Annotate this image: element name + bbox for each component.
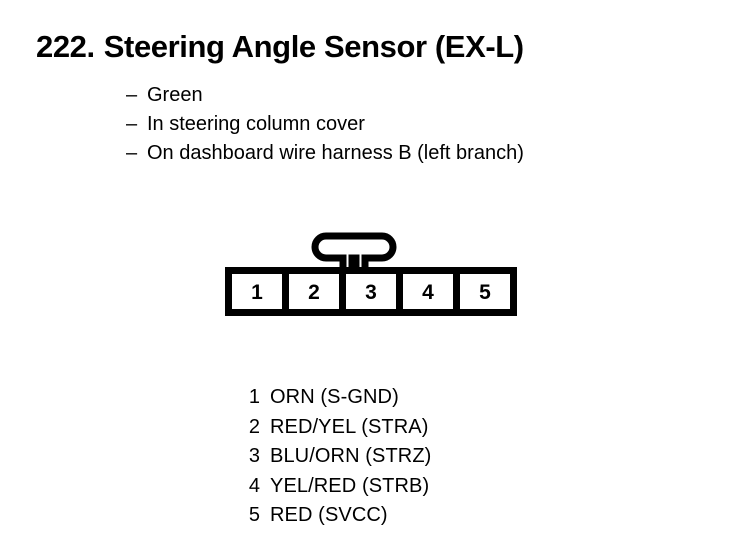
pinout-pin-number: 4 — [238, 472, 260, 502]
pinout-pin-number: 5 — [238, 501, 260, 531]
pinout-row: 4 YEL/RED (STRB) — [238, 472, 431, 502]
dash-icon: – — [126, 139, 147, 168]
cavity-number: 3 — [365, 281, 377, 304]
pinout-pin-label: RED/YEL (STRA) — [270, 413, 428, 443]
pinout-pin-label: RED (SVCC) — [270, 501, 388, 531]
pinout-pin-label: YEL/RED (STRB) — [270, 472, 429, 502]
connector-reference-page: 222.Steering Angle Sensor (EX-L) – Green… — [0, 0, 736, 560]
pinout-row: 3 BLU/ORN (STRZ) — [238, 442, 431, 472]
page-title-number: 222. — [36, 29, 95, 64]
note-item-label: In steering column cover — [147, 110, 365, 139]
note-item: – Green — [126, 81, 524, 110]
pinout-pin-number: 1 — [238, 383, 260, 413]
pinout-row: 5 RED (SVCC) — [238, 501, 431, 531]
note-item-label: On dashboard wire harness B (left branch… — [147, 139, 524, 168]
pinout-pin-label: ORN (S-GND) — [270, 383, 399, 413]
lock-tab-icon — [315, 236, 393, 272]
cavity-number: 1 — [251, 281, 263, 304]
dash-icon: – — [126, 110, 147, 139]
pinout-row: 1 ORN (S-GND) — [238, 383, 431, 413]
cavity-number: 2 — [308, 281, 320, 304]
connector-diagram: 1 2 3 4 5 — [225, 226, 517, 316]
pinout-pin-label: BLU/ORN (STRZ) — [270, 442, 431, 472]
dash-icon: – — [126, 81, 147, 110]
pinout-pin-number: 3 — [238, 442, 260, 472]
notes-list: – Green – In steering column cover – On … — [126, 81, 524, 168]
page-title-text: Steering Angle Sensor (EX-L) — [104, 29, 524, 64]
cavity-number: 4 — [422, 281, 434, 304]
pinout-legend: 1 ORN (S-GND) 2 RED/YEL (STRA) 3 BLU/ORN… — [238, 383, 431, 531]
note-item-label: Green — [147, 81, 203, 110]
cavity-number: 5 — [479, 281, 491, 304]
page-title: 222.Steering Angle Sensor (EX-L) — [36, 30, 524, 64]
note-item: – On dashboard wire harness B (left bran… — [126, 139, 524, 168]
pinout-pin-number: 2 — [238, 413, 260, 443]
note-item: – In steering column cover — [126, 110, 524, 139]
pinout-row: 2 RED/YEL (STRA) — [238, 413, 431, 443]
